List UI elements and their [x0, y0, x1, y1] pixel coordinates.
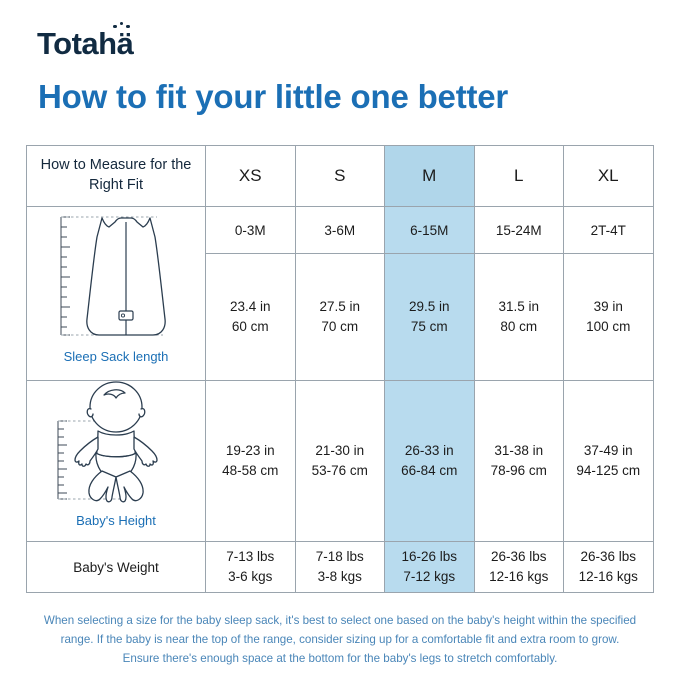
header-measure-label: How to Measure for the Right Fit: [27, 146, 206, 207]
sleep-sack-illustration: Sleep Sack length: [27, 207, 205, 380]
brand-logo: Totahä: [37, 28, 133, 59]
height-cell-xl: 37-49 in 94-125 cm: [564, 381, 654, 542]
age-cell-xs: 0-3M: [206, 207, 296, 254]
weight-lbs-xl: 26-36 lbs: [564, 547, 653, 567]
length-cm-s: 70 cm: [296, 317, 385, 337]
table-header-row: How to Measure for the Right Fit XS S M …: [27, 146, 654, 207]
weight-lbs-xs: 7-13 lbs: [206, 547, 295, 567]
weight-lbs-s: 7-18 lbs: [296, 547, 385, 567]
baby-icon: [36, 381, 196, 511]
weight-kgs-m: 7-12 kgs: [385, 567, 474, 587]
length-cm-l: 80 cm: [475, 317, 564, 337]
length-cell-xl: 39 in 100 cm: [564, 254, 654, 381]
weight-kgs-xl: 12-16 kgs: [564, 567, 653, 587]
length-cm-xl: 100 cm: [564, 317, 653, 337]
header-size-s[interactable]: S: [295, 146, 385, 207]
footer-note: When selecting a size for the baby sleep…: [22, 612, 658, 668]
length-cell-xs: 23.4 in 60 cm: [206, 254, 296, 381]
age-cell-xl: 2T-4T: [564, 207, 654, 254]
length-cm-m: 75 cm: [385, 317, 474, 337]
height-cm-s: 53-76 cm: [296, 461, 385, 481]
height-cm-m: 66-84 cm: [385, 461, 474, 481]
baby-illustration: Baby's Height: [27, 381, 205, 541]
weight-kgs-xs: 3-6 kgs: [206, 567, 295, 587]
sleep-sack-icon: [41, 207, 191, 347]
height-in-s: 21-30 in: [296, 441, 385, 461]
age-cell-l: 15-24M: [474, 207, 564, 254]
length-in-l: 31.5 in: [475, 297, 564, 317]
height-cell-s: 21-30 in 53-76 cm: [295, 381, 385, 542]
height-cell-xs: 19-23 in 48-58 cm: [206, 381, 296, 542]
height-cell-m: 26-33 in 66-84 cm: [385, 381, 475, 542]
baby-height-label: Baby's Height: [76, 513, 156, 528]
height-in-m: 26-33 in: [385, 441, 474, 461]
weight-kgs-s: 3-8 kgs: [296, 567, 385, 587]
height-in-xl: 37-49 in: [564, 441, 653, 461]
footer-line-3: Ensure there's enough space at the botto…: [22, 650, 658, 669]
size-chart-page: Totahä How to fit your little one better…: [0, 0, 679, 679]
table-row-age: Sleep Sack length 0-3M 3-6M 6-15M 15-24M…: [27, 207, 654, 254]
age-cell-s: 3-6M: [295, 207, 385, 254]
weight-kgs-l: 12-16 kgs: [475, 567, 564, 587]
brand-name: Totahä: [37, 26, 133, 61]
height-cm-xl: 94-125 cm: [564, 461, 653, 481]
header-size-xl[interactable]: XL: [564, 146, 654, 207]
weight-cell-xl: 26-36 lbs 12-16 kgs: [564, 542, 654, 593]
footer-line-2: range. If the baby is near the top of th…: [22, 631, 658, 650]
weight-cell-m: 16-26 lbs 7-12 kgs: [385, 542, 475, 593]
row-label-sleep-sack: Sleep Sack length: [27, 207, 206, 381]
weight-cell-s: 7-18 lbs 3-8 kgs: [295, 542, 385, 593]
length-cell-m: 29.5 in 75 cm: [385, 254, 475, 381]
row-label-baby-weight: Baby's Weight: [27, 542, 206, 593]
page-title: How to fit your little one better: [38, 78, 508, 116]
header-size-l[interactable]: L: [474, 146, 564, 207]
height-cm-xs: 48-58 cm: [206, 461, 295, 481]
footer-line-1: When selecting a size for the baby sleep…: [22, 612, 658, 631]
size-chart-table: How to Measure for the Right Fit XS S M …: [26, 145, 654, 593]
header-size-xs[interactable]: XS: [206, 146, 296, 207]
height-in-l: 31-38 in: [475, 441, 564, 461]
age-cell-m: 6-15M: [385, 207, 475, 254]
table-row-baby-weight: Baby's Weight 7-13 lbs 3-6 kgs 7-18 lbs …: [27, 542, 654, 593]
length-cell-s: 27.5 in 70 cm: [295, 254, 385, 381]
length-in-xl: 39 in: [564, 297, 653, 317]
sleep-sack-label: Sleep Sack length: [64, 349, 169, 364]
height-cm-l: 78-96 cm: [475, 461, 564, 481]
row-label-baby-height: Baby's Height: [27, 381, 206, 542]
height-in-xs: 19-23 in: [206, 441, 295, 461]
length-in-s: 27.5 in: [296, 297, 385, 317]
table-row-baby-height: Baby's Height 19-23 in 48-58 cm 21-30 in…: [27, 381, 654, 542]
weight-cell-xs: 7-13 lbs 3-6 kgs: [206, 542, 296, 593]
height-cell-l: 31-38 in 78-96 cm: [474, 381, 564, 542]
weight-lbs-l: 26-36 lbs: [475, 547, 564, 567]
weight-cell-l: 26-36 lbs 12-16 kgs: [474, 542, 564, 593]
length-in-m: 29.5 in: [385, 297, 474, 317]
length-cm-xs: 60 cm: [206, 317, 295, 337]
weight-lbs-m: 16-26 lbs: [385, 547, 474, 567]
header-size-m[interactable]: M: [385, 146, 475, 207]
length-cell-l: 31.5 in 80 cm: [474, 254, 564, 381]
length-in-xs: 23.4 in: [206, 297, 295, 317]
